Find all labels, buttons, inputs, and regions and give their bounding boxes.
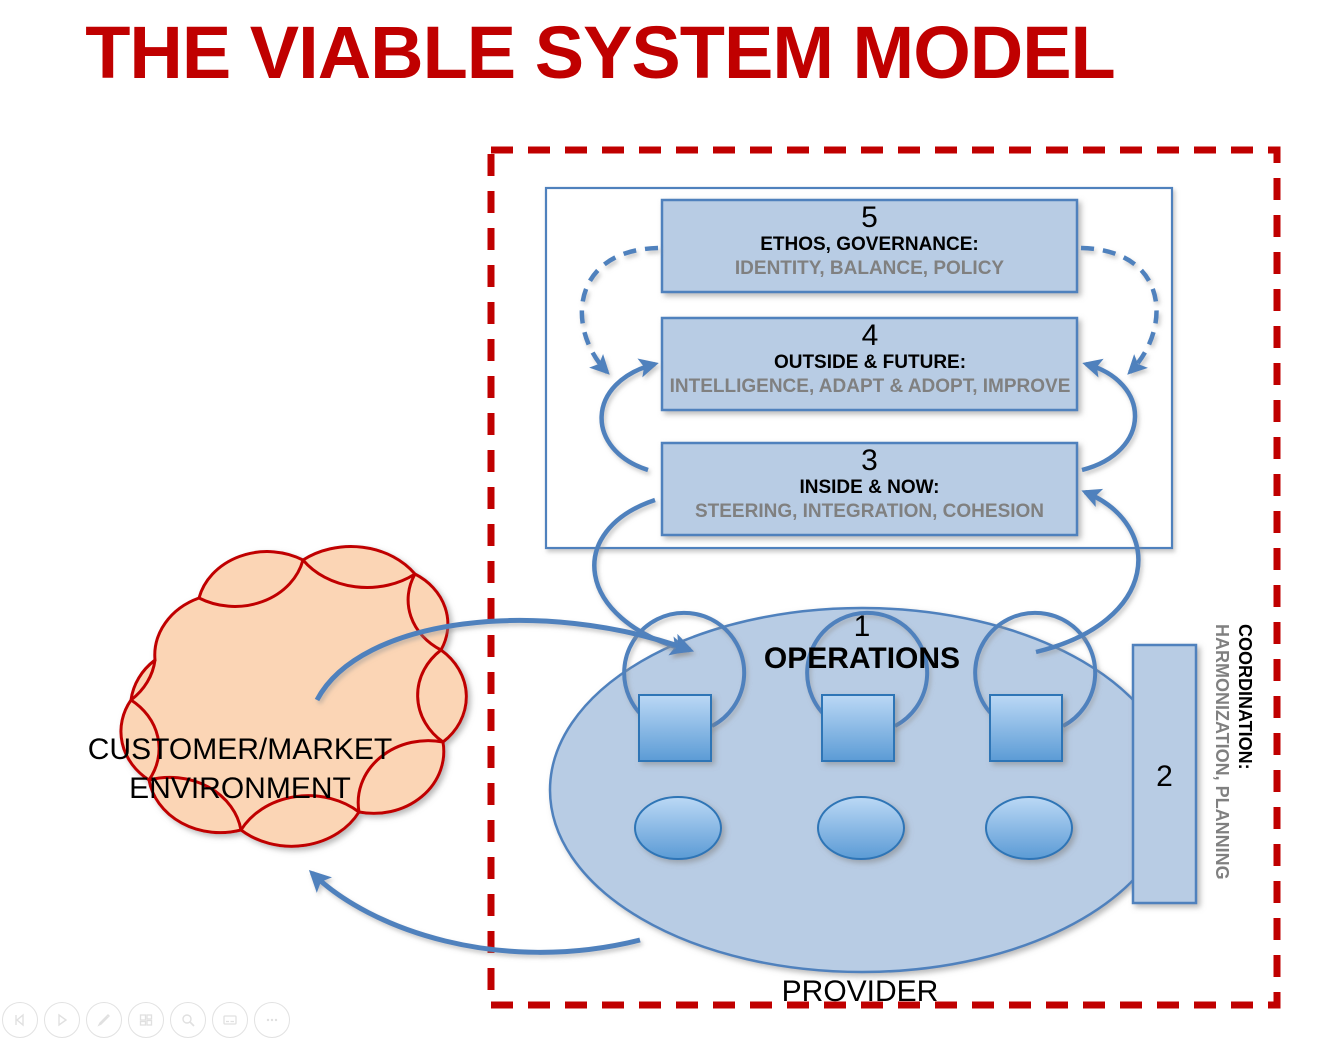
environment-cloud [121, 546, 466, 846]
more-options-icon[interactable] [254, 1002, 290, 1038]
slideshow-toolbar [0, 1002, 290, 1038]
unit-3-square [990, 695, 1062, 761]
unit-3-ellipse [986, 797, 1072, 859]
slide-canvas: THE VIABLE SYSTEM MODEL [0, 0, 1339, 1041]
system-3-box [662, 443, 1077, 535]
unit-2-ellipse [818, 797, 904, 859]
operations-ellipse [550, 608, 1174, 972]
previous-slide-icon[interactable] [2, 1002, 38, 1038]
unit-2-square [822, 695, 894, 761]
diagram-artwork [0, 0, 1339, 1041]
zoom-magnifier-icon[interactable] [170, 1002, 206, 1038]
link-operations-to-environment [312, 873, 640, 952]
system-4-box [662, 318, 1077, 410]
slide-grid-icon[interactable] [128, 1002, 164, 1038]
unit-1-ellipse [635, 797, 721, 859]
play-slide-icon[interactable] [44, 1002, 80, 1038]
system-2-box [1133, 645, 1196, 903]
subtitles-icon[interactable] [212, 1002, 248, 1038]
unit-1-square [639, 695, 711, 761]
system-5-box [662, 200, 1077, 292]
pen-annotate-icon[interactable] [86, 1002, 122, 1038]
